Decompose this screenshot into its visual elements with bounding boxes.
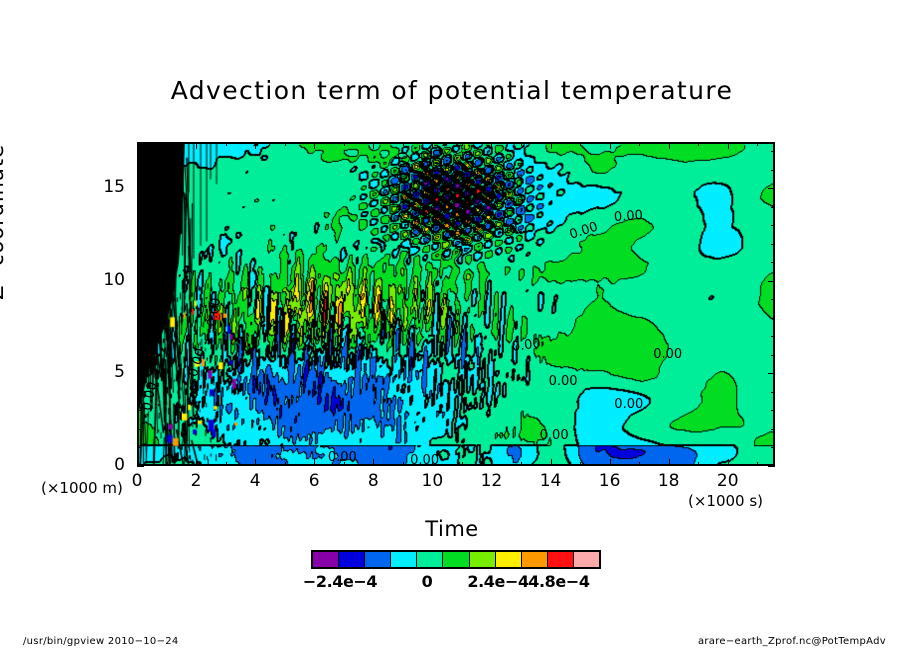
x-tick-minor bbox=[698, 462, 699, 466]
y-tick-minor-right bbox=[771, 299, 775, 300]
y-tick-minor bbox=[137, 355, 141, 356]
x-tick-minor-top bbox=[403, 142, 404, 146]
colorbar-segment-10 bbox=[574, 552, 599, 567]
y-tick-minor bbox=[137, 151, 141, 152]
x-tick-mark bbox=[196, 459, 197, 466]
colorbar-segment-6 bbox=[470, 552, 496, 567]
y-tick-label: 5 bbox=[85, 362, 125, 382]
x-axis-title: Time bbox=[0, 517, 904, 541]
page-title: Advection term of potential temperature bbox=[0, 76, 904, 105]
colorbar-tick-label: −2.4e−4 bbox=[290, 572, 390, 591]
contour-plot-area[interactable]: 0.000.000.000.000.000.000.000.000.000.00… bbox=[137, 142, 775, 466]
y-tick-minor bbox=[137, 244, 141, 245]
y-tick-minor bbox=[137, 410, 141, 411]
x-tick-minor bbox=[403, 462, 404, 466]
y-tick-label: 15 bbox=[85, 177, 125, 197]
y-tick-mark bbox=[137, 466, 144, 467]
x-tick-minor-top bbox=[285, 142, 286, 146]
x-tick-minor bbox=[462, 462, 463, 466]
y-tick-mark-right bbox=[768, 188, 775, 189]
y-tick-minor-right bbox=[771, 336, 775, 337]
x-tick-minor-top bbox=[167, 142, 168, 146]
x-tick-mark-top bbox=[314, 142, 315, 149]
y-tick-label: 0 bbox=[85, 455, 125, 475]
y-tick-minor-right bbox=[771, 244, 775, 245]
y-tick-label: 10 bbox=[85, 270, 125, 290]
x-tick-mark bbox=[551, 459, 552, 466]
x-tick-mark bbox=[491, 459, 492, 466]
x-tick-mark-top bbox=[610, 142, 611, 149]
y-tick-minor bbox=[137, 336, 141, 337]
x-tick-mark-top bbox=[551, 142, 552, 149]
y-tick-mark bbox=[137, 373, 144, 374]
x-tick-minor bbox=[757, 462, 758, 466]
x-tick-minor bbox=[285, 462, 286, 466]
y-tick-minor-right bbox=[771, 447, 775, 448]
colorbar-segment-4 bbox=[417, 552, 443, 567]
y-tick-minor bbox=[137, 262, 141, 263]
footer-dataset-info: arare−earth_Zprof.nc@PotTempAdv bbox=[698, 636, 886, 647]
y-tick-mark bbox=[137, 188, 144, 189]
x-tick-label: 10 bbox=[412, 471, 452, 491]
footer-command-info: /usr/bin/gpview 2010−10−24 bbox=[23, 636, 179, 647]
colorbar-segment-0 bbox=[313, 552, 339, 567]
x-tick-label: 14 bbox=[531, 471, 571, 491]
x-tick-mark bbox=[728, 459, 729, 466]
x-tick-minor bbox=[167, 462, 168, 466]
x-tick-minor-top bbox=[580, 142, 581, 146]
x-tick-mark bbox=[432, 459, 433, 466]
colorbar-tick-label: 4.8e−4 bbox=[509, 572, 609, 591]
y-tick-mark bbox=[137, 281, 144, 282]
y-tick-minor-right bbox=[771, 410, 775, 411]
y-tick-minor bbox=[137, 318, 141, 319]
x-tick-minor bbox=[521, 462, 522, 466]
colorbar-segment-7 bbox=[496, 552, 522, 567]
y-tick-minor bbox=[137, 299, 141, 300]
x-tick-mark bbox=[373, 459, 374, 466]
y-tick-minor-right bbox=[771, 429, 775, 430]
x-tick-label: 12 bbox=[471, 471, 511, 491]
x-tick-mark bbox=[255, 459, 256, 466]
y-tick-minor bbox=[137, 170, 141, 171]
x-tick-label: 16 bbox=[590, 471, 630, 491]
y-tick-minor bbox=[137, 207, 141, 208]
x-tick-minor-top bbox=[344, 142, 345, 146]
y-tick-minor-right bbox=[771, 207, 775, 208]
x-tick-mark-top bbox=[137, 142, 138, 149]
x-tick-label: 2 bbox=[176, 471, 216, 491]
x-tick-mark-top bbox=[255, 142, 256, 149]
y-tick-minor-right bbox=[771, 151, 775, 152]
y-tick-mark-right bbox=[768, 373, 775, 374]
y-tick-minor-right bbox=[771, 262, 775, 263]
y-tick-mark-right bbox=[768, 281, 775, 282]
x-tick-minor bbox=[226, 462, 227, 466]
colorbar-segment-1 bbox=[339, 552, 365, 567]
x-tick-minor-top bbox=[521, 142, 522, 146]
y-tick-minor-right bbox=[771, 318, 775, 319]
x-tick-minor-top bbox=[757, 142, 758, 146]
colorbar-segment-5 bbox=[443, 552, 469, 567]
x-tick-mark-top bbox=[728, 142, 729, 149]
colorbar[interactable] bbox=[311, 550, 601, 569]
x-tick-label: 8 bbox=[353, 471, 393, 491]
x-tick-mark bbox=[137, 459, 138, 466]
y-tick-minor-right bbox=[771, 170, 775, 171]
x-tick-minor-top bbox=[226, 142, 227, 146]
y-tick-minor bbox=[137, 447, 141, 448]
y-tick-minor-right bbox=[771, 225, 775, 226]
x-tick-mark bbox=[669, 459, 670, 466]
x-axis-unit-label: (×1000 s) bbox=[688, 492, 763, 510]
x-tick-label: 18 bbox=[649, 471, 689, 491]
x-tick-mark bbox=[610, 459, 611, 466]
x-tick-label: 4 bbox=[235, 471, 275, 491]
y-axis-title: Z−coordinate bbox=[0, 144, 8, 300]
y-tick-minor bbox=[137, 429, 141, 430]
y-tick-mark-right bbox=[768, 466, 775, 467]
x-tick-minor-top bbox=[698, 142, 699, 146]
x-tick-minor-top bbox=[639, 142, 640, 146]
colorbar-segment-9 bbox=[548, 552, 574, 567]
x-tick-mark-top bbox=[432, 142, 433, 149]
x-tick-mark-top bbox=[196, 142, 197, 149]
y-tick-minor-right bbox=[771, 355, 775, 356]
x-tick-minor bbox=[639, 462, 640, 466]
x-tick-mark-top bbox=[491, 142, 492, 149]
x-tick-minor-top bbox=[462, 142, 463, 146]
colorbar-segment-8 bbox=[522, 552, 548, 567]
x-tick-minor bbox=[344, 462, 345, 466]
x-tick-label: 20 bbox=[708, 471, 748, 491]
x-tick-label: 6 bbox=[294, 471, 334, 491]
y-tick-minor bbox=[137, 392, 141, 393]
colorbar-segment-3 bbox=[391, 552, 417, 567]
contour-canvas bbox=[139, 144, 773, 464]
x-tick-mark-top bbox=[669, 142, 670, 149]
x-tick-mark-top bbox=[373, 142, 374, 149]
x-tick-minor bbox=[580, 462, 581, 466]
y-axis-unit-label: (×1000 m) bbox=[41, 479, 123, 497]
x-tick-mark bbox=[314, 459, 315, 466]
colorbar-segment-2 bbox=[365, 552, 391, 567]
y-tick-minor bbox=[137, 225, 141, 226]
y-tick-minor-right bbox=[771, 392, 775, 393]
